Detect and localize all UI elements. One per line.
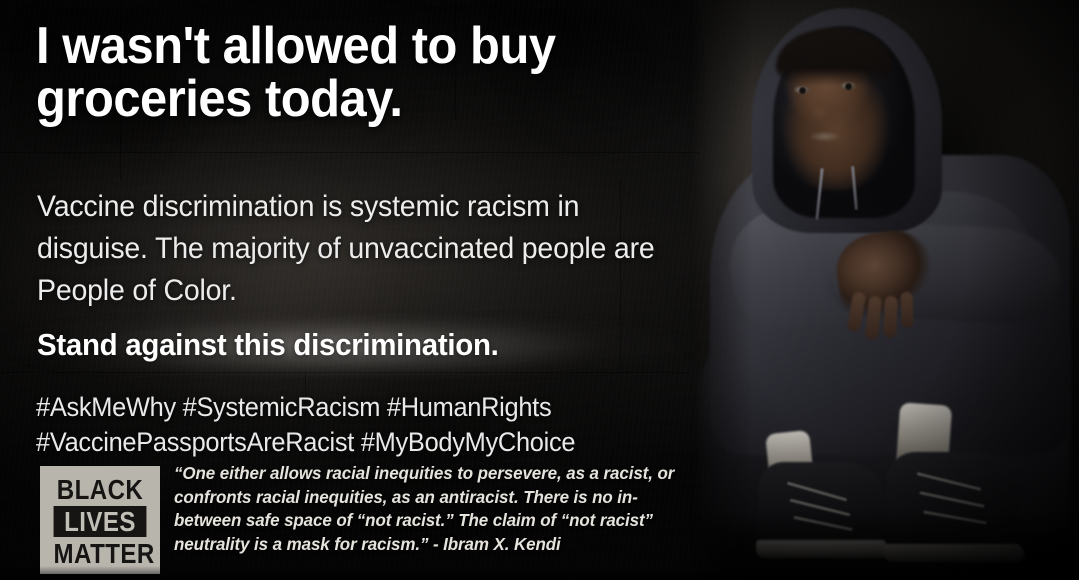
logo-line-lives: LIVES [54,506,147,537]
call-to-action: Stand against this discrimination. [37,325,683,365]
logo-line-black: BLACK [54,474,147,505]
headline: I wasn't allowed to buy groceries today. [36,20,675,126]
hashtags: #AskMeWhy #SystemicRacism #HumanRights #… [36,390,675,460]
body-copy: Vaccine discrimination is systemic racis… [37,186,664,312]
hashtags-line-2: #VaccinePassportsAreRacist #MyBodyMyChoi… [36,425,675,460]
black-lives-matter-logo: BLACK LIVES MATTER [40,466,160,574]
logo-line-matter: MATTER [54,538,147,569]
poster-image: I wasn't allowed to buy groceries today.… [0,0,1079,580]
quote-text: “One either allows racial inequities to … [174,462,678,556]
hashtags-line-1: #AskMeWhy #SystemicRacism #HumanRights [36,390,675,425]
